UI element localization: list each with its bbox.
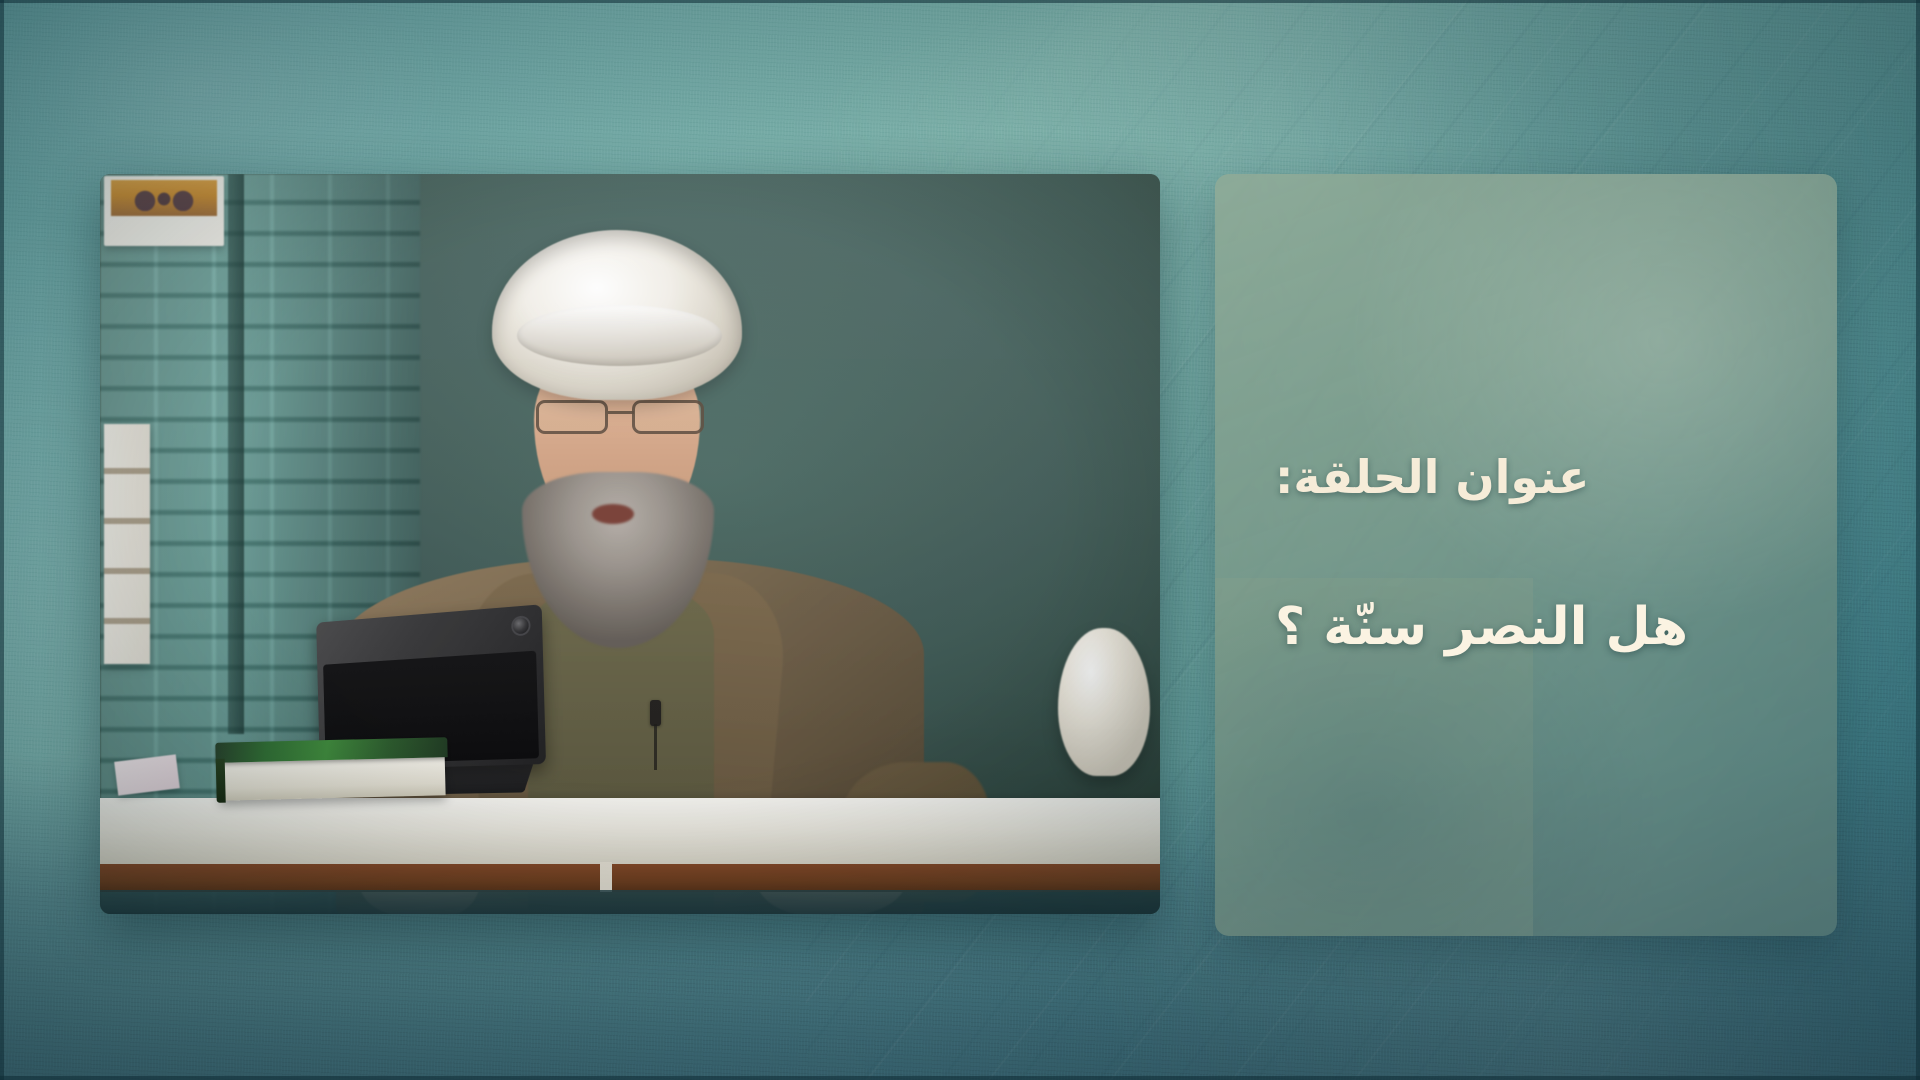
episode-label: عنوان الحلقة:: [1275, 447, 1589, 509]
frame-edge-top: [0, 0, 1920, 3]
wall-post: [228, 174, 244, 734]
video-panel[interactable]: [100, 174, 1160, 914]
shelf-unit: [104, 424, 150, 664]
episode-title-text-group: عنوان الحلقة: هل النصر سنّة ؟: [1215, 174, 1837, 936]
framed-picture-art: [111, 180, 217, 216]
glasses-lens-left: [536, 400, 608, 434]
book-spine: [216, 759, 226, 803]
speaker-mouth: [592, 504, 634, 524]
book-pages: [219, 755, 446, 801]
desk-shadow: [100, 890, 1160, 914]
framed-picture-icon: [104, 176, 224, 246]
book-prop: [215, 737, 448, 805]
lapel-microphone-icon: [650, 700, 661, 726]
slide-stage: عنوان الحلقة: هل النصر سنّة ؟: [0, 0, 1920, 1080]
speaker-turban: [492, 230, 742, 400]
episode-title: هل النصر سنّة ؟: [1275, 593, 1688, 663]
frame-edge-left: [0, 0, 4, 1080]
glasses-icon: [532, 400, 708, 434]
desk-edge: [100, 864, 1160, 892]
frame-edge-right: [1916, 0, 1920, 1080]
glasses-bridge: [608, 411, 634, 414]
glasses-lens-right: [632, 400, 704, 434]
frame-edge-bottom: [0, 1076, 1920, 1080]
vase-prop: [1058, 628, 1150, 776]
episode-title-panel: عنوان الحلقة: هل النصر سنّة ؟: [1215, 174, 1837, 936]
desk-seam: [600, 862, 612, 892]
desk-surface: [100, 798, 1160, 866]
